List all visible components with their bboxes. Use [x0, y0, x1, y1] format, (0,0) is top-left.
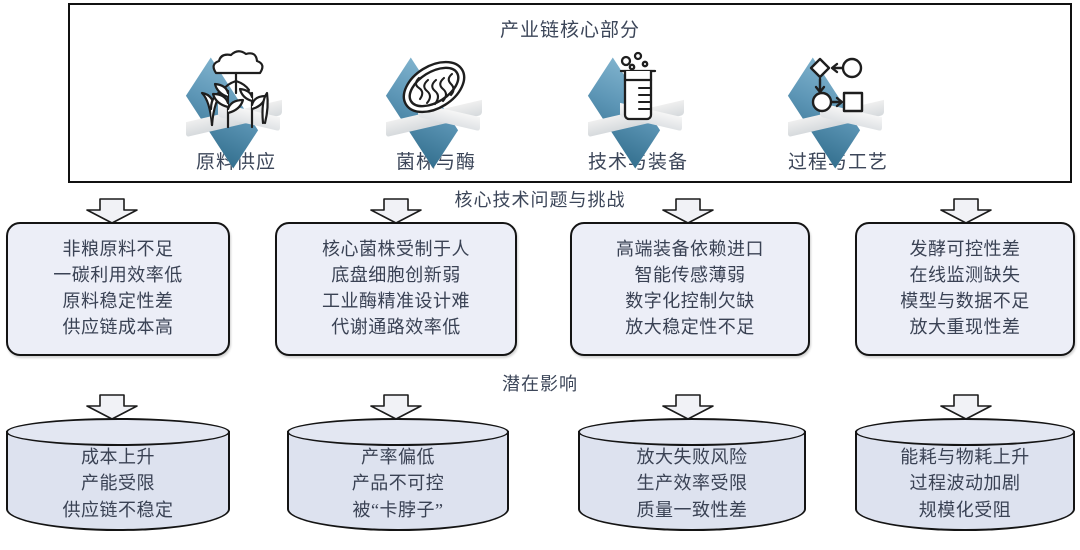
down-arrow-icon: [86, 394, 138, 420]
challenge-line: 供应链成本高: [63, 315, 174, 341]
impact-line: 生产效率受限: [578, 470, 806, 496]
challenge-line: 发酵可控性差: [910, 237, 1021, 263]
crops-plants-glyph: [166, 47, 306, 143]
impact-line: 过程波动加剧: [855, 470, 1075, 496]
challenge-line: 工业酶精准设计难: [322, 289, 470, 315]
challenge-box[interactable]: 高端装备依赖进口 智能传感薄弱 数字化控制欠缺 放大稳定性不足: [570, 222, 810, 356]
challenge-line: 在线监测缺失: [910, 263, 1021, 289]
challenge-line: 底盘细胞创新弱: [331, 263, 461, 289]
impact-line: 产能受限: [6, 470, 230, 496]
chain-node-technology-equipment[interactable]: 技术与装备: [538, 47, 738, 174]
impact-line: 能耗与物耗上升: [855, 444, 1075, 470]
mitochondrion-cell-icon: [366, 47, 506, 143]
challenge-line: 数字化控制欠缺: [625, 289, 755, 315]
beaker-glyph: [568, 47, 708, 143]
industry-chain-frame: 产业链核心部分: [68, 3, 1072, 183]
impact-line: 供应链不稳定: [6, 497, 230, 523]
down-arrow-icon: [370, 198, 422, 224]
impact-cylinder[interactable]: 能耗与物耗上升 过程波动加剧 规模化受阻: [855, 418, 1075, 544]
challenge-line: 模型与数据不足: [900, 289, 1030, 315]
down-arrow-icon: [370, 394, 422, 420]
impact-line: 产品不可控: [287, 470, 509, 496]
impact-line: 质量一致性差: [578, 497, 806, 523]
challenge-line: 原料稳定性差: [63, 289, 174, 315]
impact-line: 被“卡脖子”: [287, 497, 509, 523]
impact-cylinder[interactable]: 成本上升 产能受限 供应链不稳定: [6, 418, 230, 544]
challenge-line: 高端装备依赖进口: [616, 237, 764, 263]
chain-node-process-craft[interactable]: 过程与工艺: [738, 47, 938, 174]
cylinder-text: 成本上升 产能受限 供应链不稳定: [6, 444, 230, 523]
cylinder-top-ellipse: [578, 418, 806, 446]
impact-line: 产率偏低: [287, 444, 509, 470]
cylinder-top-ellipse: [287, 418, 509, 446]
mitochondrion-glyph: [366, 47, 506, 143]
crops-plants-icon: [166, 47, 306, 143]
cylinder-text: 放大失败风险 生产效率受限 质量一致性差: [578, 444, 806, 523]
challenge-line: 代谢通路效率低: [331, 315, 461, 341]
challenges-caption: 核心技术问题与挑战: [0, 186, 1080, 212]
chain-node-strains-enzymes[interactable]: 菌株与酶: [336, 47, 536, 174]
chain-node-raw-material[interactable]: 原料供应: [136, 47, 336, 174]
down-arrow-icon: [86, 198, 138, 224]
challenge-line: 智能传感薄弱: [635, 263, 746, 289]
challenge-box[interactable]: 核心菌株受制于人 底盘细胞创新弱 工业酶精准设计难 代谢通路效率低: [275, 222, 517, 356]
challenge-box[interactable]: 发酵可控性差 在线监测缺失 模型与数据不足 放大重现性差: [855, 222, 1075, 356]
industry-chain-title: 产业链核心部分: [70, 15, 1070, 42]
down-arrow-icon: [662, 394, 714, 420]
challenge-line: 一碳利用效率低: [53, 263, 183, 289]
challenge-box[interactable]: 非粮原料不足 一碳利用效率低 原料稳定性差 供应链成本高: [6, 222, 230, 356]
impact-cylinder[interactable]: 产率偏低 产品不可控 被“卡脖子”: [287, 418, 509, 544]
down-arrow-icon: [662, 198, 714, 224]
flowchart-glyph: [768, 47, 908, 143]
challenge-line: 非粮原料不足: [63, 237, 174, 263]
beaker-flask-icon: [568, 47, 708, 143]
challenge-line: 放大重现性差: [910, 315, 1021, 341]
down-arrow-icon: [940, 394, 992, 420]
cylinder-top-ellipse: [6, 418, 230, 446]
process-flowchart-icon: [768, 47, 908, 143]
impacts-caption: 潜在影响: [0, 370, 1080, 396]
down-arrow-icon: [940, 198, 992, 224]
challenge-line: 放大稳定性不足: [625, 315, 755, 341]
impact-line: 放大失败风险: [578, 444, 806, 470]
challenge-line: 核心菌株受制于人: [322, 237, 470, 263]
impact-line: 规模化受阻: [855, 497, 1075, 523]
cylinder-text: 产率偏低 产品不可控 被“卡脖子”: [287, 444, 509, 523]
impact-cylinder[interactable]: 放大失败风险 生产效率受限 质量一致性差: [578, 418, 806, 544]
impact-line: 成本上升: [6, 444, 230, 470]
cylinder-text: 能耗与物耗上升 过程波动加剧 规模化受阻: [855, 444, 1075, 523]
cylinder-top-ellipse: [855, 418, 1075, 446]
